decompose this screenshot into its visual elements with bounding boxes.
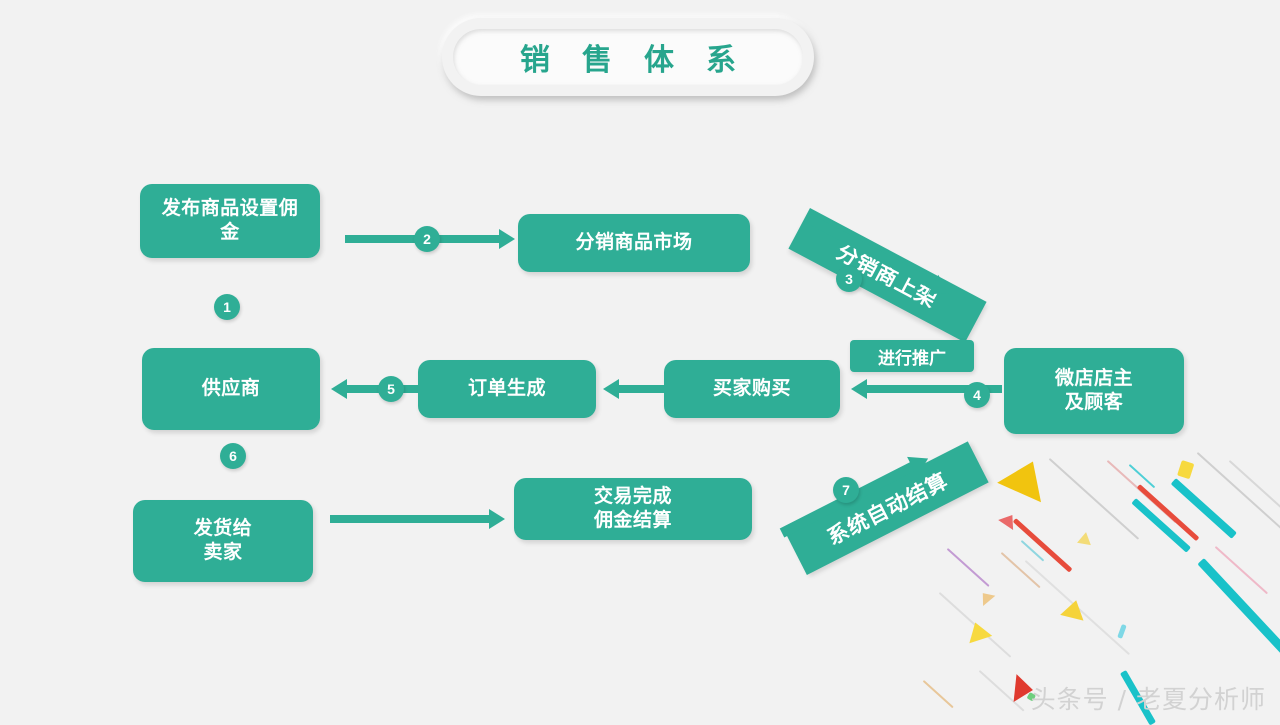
node-order-created-text: 订单生成: [468, 377, 546, 401]
deco-ribbon: [1197, 558, 1280, 687]
node-supplier-text: 供应商: [202, 377, 261, 401]
title-pill-inner: 销售体系: [453, 29, 803, 85]
title-pill: 销售体系: [442, 18, 814, 96]
node-ship-to-seller[interactable]: 发货给 卖家: [133, 500, 313, 582]
node-supplier[interactable]: 供应商: [142, 348, 320, 430]
node-buyer-purchase[interactable]: 买家购买: [664, 360, 840, 418]
page-title: 销售体系: [488, 35, 768, 79]
deco-triangle: [1077, 531, 1093, 545]
deco-line: [923, 680, 954, 708]
deco-line: [939, 592, 1012, 658]
deco-line: [1025, 560, 1130, 655]
node-order-created[interactable]: 订单生成: [418, 360, 596, 418]
deco-line: [1129, 464, 1156, 488]
deco-triangle: [997, 452, 1055, 503]
deco-triangle: [964, 619, 992, 644]
deco-line: [979, 670, 1025, 712]
node-deal-settlement-text: 交易完成 佣金结算: [594, 485, 672, 534]
deco-fleck: [1177, 460, 1194, 479]
deco-ribbon: [1137, 484, 1200, 541]
node-deal-settlement[interactable]: 交易完成 佣金结算: [514, 478, 752, 540]
node-distribution-market[interactable]: 分销商品市场: [518, 214, 750, 272]
deco-line: [1021, 540, 1045, 562]
deco-ribbon: [1013, 518, 1073, 573]
deco-ribbon: [1131, 498, 1191, 553]
badge-step6: 6: [220, 443, 246, 469]
node-shop-owner-customer[interactable]: 微店店主 及顾客: [1004, 348, 1184, 434]
deco-triangle: [998, 510, 1020, 530]
deco-line: [1049, 458, 1140, 540]
watermark: 头条号 / 老夏分析师: [1031, 680, 1266, 716]
deco-triangle: [977, 588, 996, 606]
chip-promotion[interactable]: 进行推广: [850, 340, 974, 372]
node-publish-product[interactable]: 发布商品设置佣 金: [140, 184, 320, 258]
badge-step5: 5: [378, 376, 404, 402]
deco-fleck: [1117, 624, 1126, 639]
node-shop-owner-customer-text: 微店店主 及顾客: [1055, 367, 1133, 416]
node-distribution-market-text: 分销商品市场: [575, 231, 692, 255]
node-buyer-purchase-text: 买家购买: [713, 377, 791, 401]
deco-triangle: [1060, 597, 1088, 620]
node-ship-to-seller-text: 发货给 卖家: [194, 517, 253, 566]
badge-step3: 3: [836, 266, 862, 292]
badge-step4: 4: [964, 382, 990, 408]
deco-line: [1229, 460, 1280, 535]
deco-ribbon: [1171, 478, 1237, 539]
badge-step1: 1: [214, 294, 240, 320]
arrow-order-from-buyer: [618, 385, 664, 393]
deco-line: [1107, 460, 1177, 523]
badge-step2: 2: [414, 226, 440, 252]
deco-line: [1197, 452, 1280, 540]
node-publish-product-text: 发布商品设置佣 金: [162, 197, 299, 246]
arrow-ship-to-deal: [330, 515, 490, 523]
banner-auto-settlement[interactable]: 系统自动结算: [786, 441, 989, 575]
badge-step7: 7: [833, 477, 859, 503]
deco-line: [1001, 552, 1041, 588]
slide-canvas: 销售体系 发布商品设置佣 金 2 分销商品市场 1 3 分销商上架 供应商 5 …: [0, 0, 1280, 720]
chip-promotion-text: 进行推广: [878, 344, 946, 369]
deco-line: [1215, 546, 1268, 594]
deco-line: [947, 548, 990, 587]
